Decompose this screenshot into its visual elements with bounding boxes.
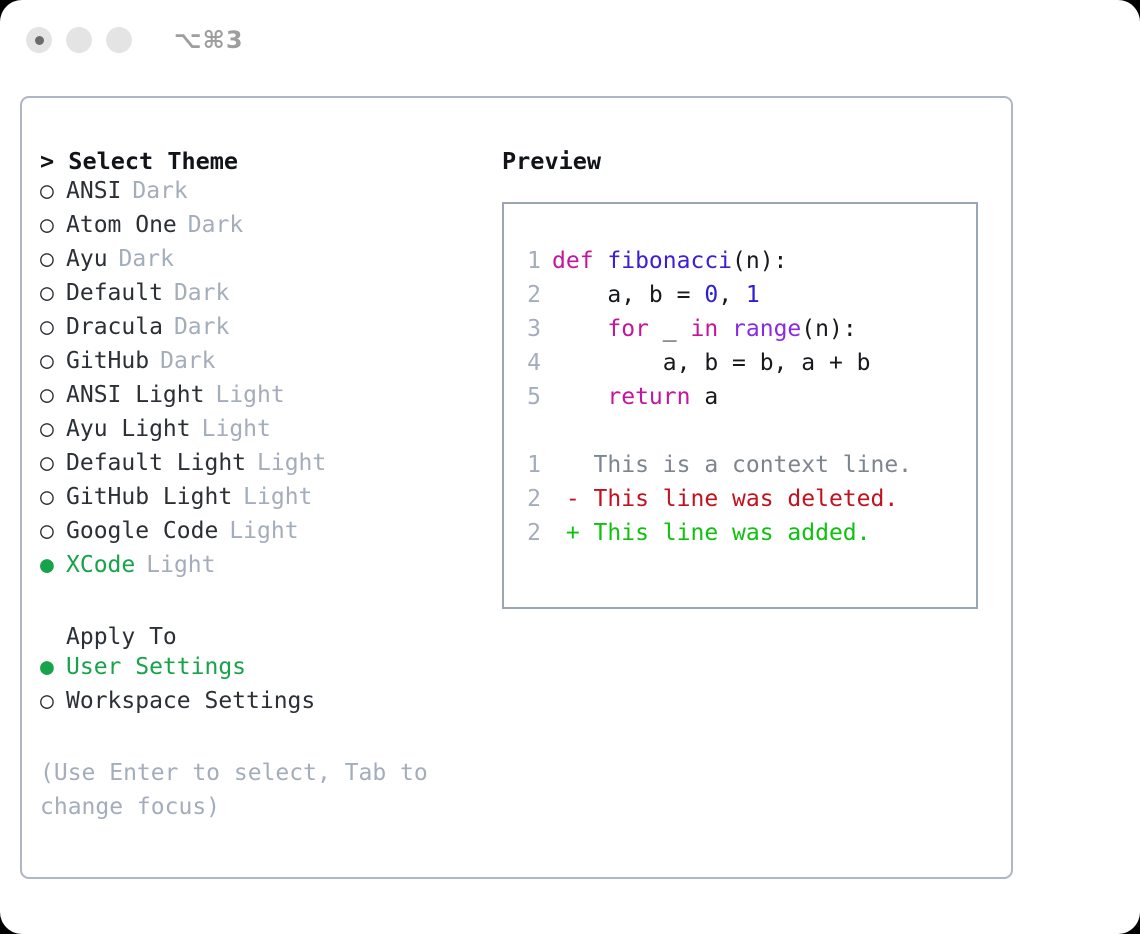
apply-to-option-workspace-settings[interactable]: ○Workspace Settings: [40, 688, 502, 722]
diff-line-number: 2: [516, 520, 552, 546]
code-token-pl: [552, 384, 607, 410]
radio-selected-icon: ●: [40, 654, 66, 680]
theme-option-label: Default: [66, 280, 163, 306]
radio-unselected-icon: ○: [40, 280, 66, 306]
theme-option-github-light[interactable]: ○GitHub LightLight: [40, 484, 502, 518]
code-line: 1def fibonacci(n):: [516, 248, 976, 282]
code-token-pl: (n):: [732, 248, 787, 274]
keyboard-hint-text: (Use Enter to select, Tab to change focu…: [40, 756, 445, 824]
code-line-content: a, b = 0, 1: [552, 282, 760, 308]
window-close-button[interactable]: [26, 27, 52, 53]
theme-option-atom-one[interactable]: ○Atom OneDark: [40, 212, 502, 246]
theme-option-label: ANSI Light: [66, 382, 204, 408]
spacer: [40, 586, 502, 620]
window-minimize-button[interactable]: [66, 27, 92, 53]
apply-to-heading: Apply To: [66, 620, 502, 654]
theme-variant-tag: Light: [229, 518, 298, 544]
panel-columns: > Select Theme ○ANSIDark○Atom OneDark○Ay…: [22, 98, 1011, 824]
theme-variant-tag: Dark: [174, 280, 229, 306]
radio-unselected-icon: ○: [40, 246, 66, 272]
theme-option-ayu-light[interactable]: ○Ayu LightLight: [40, 416, 502, 450]
code-line-content: for _ in range(n):: [552, 316, 857, 342]
code-line-number: 2: [516, 282, 552, 308]
radio-unselected-icon: ○: [40, 314, 66, 340]
radio-unselected-icon: ○: [40, 348, 66, 374]
diff-line: 2 - This line was deleted.: [516, 486, 976, 520]
theme-variant-tag: Light: [146, 552, 215, 578]
apply-to-option-user-settings[interactable]: ●User Settings: [40, 654, 502, 688]
preview-title: Preview: [502, 144, 1002, 178]
code-line-number: 5: [516, 384, 552, 410]
main-panel: > Select Theme ○ANSIDark○Atom OneDark○Ay…: [20, 96, 1013, 879]
code-token-fn: fibonacci: [607, 248, 732, 274]
code-line: 5 return a: [516, 384, 976, 418]
code-token-kw: in: [690, 316, 718, 342]
theme-option-label: Atom One: [66, 212, 177, 238]
theme-option-label: Ayu Light: [66, 416, 191, 442]
diff-line-content: This is a context line.: [552, 452, 912, 478]
theme-option-label: Default Light: [66, 450, 246, 476]
keyboard-shortcut-label: ⌥⌘3: [174, 26, 244, 54]
close-dot-icon: [35, 36, 44, 45]
code-line: 4 a, b = b, a + b: [516, 350, 976, 384]
theme-variant-tag: Dark: [119, 246, 174, 272]
code-token-kw: for: [607, 316, 649, 342]
code-line: 2 a, b = 0, 1: [516, 282, 976, 316]
theme-variant-tag: Light: [215, 382, 284, 408]
code-token-kw: return: [607, 384, 690, 410]
theme-variant-tag: Dark: [160, 348, 215, 374]
theme-option-dracula[interactable]: ○DraculaDark: [40, 314, 502, 348]
theme-option-ansi[interactable]: ○ANSIDark: [40, 178, 502, 212]
radio-unselected-icon: ○: [40, 382, 66, 408]
diff-line-content: - This line was deleted.: [552, 486, 898, 512]
theme-option-ayu[interactable]: ○AyuDark: [40, 246, 502, 280]
diff-line-content: + This line was added.: [552, 520, 871, 546]
radio-unselected-icon: ○: [40, 688, 66, 714]
theme-variant-tag: Dark: [174, 314, 229, 340]
theme-option-default-light[interactable]: ○Default LightLight: [40, 450, 502, 484]
theme-option-label: XCode: [66, 552, 135, 578]
radio-selected-icon: ●: [40, 552, 66, 578]
theme-option-google-code[interactable]: ○Google CodeLight: [40, 518, 502, 552]
code-line-content: return a: [552, 384, 718, 410]
diff-line: 2 + This line was added.: [516, 520, 976, 554]
code-sample: 1def fibonacci(n):2 a, b = 0, 13 for _ i…: [516, 248, 976, 418]
code-token-pl: _: [649, 316, 691, 342]
radio-unselected-icon: ○: [40, 518, 66, 544]
radio-unselected-icon: ○: [40, 450, 66, 476]
code-line-number: 1: [516, 248, 552, 274]
theme-option-github[interactable]: ○GitHubDark: [40, 348, 502, 382]
code-token-pl: a: [690, 384, 718, 410]
theme-option-label: GitHub Light: [66, 484, 232, 510]
code-token-num: 1: [746, 282, 760, 308]
apply-to-option-label: User Settings: [66, 654, 246, 680]
app-window: ⌥⌘3 > Select Theme ○ANSIDark○Atom OneDar…: [0, 0, 1140, 934]
preview-box: 1def fibonacci(n):2 a, b = 0, 13 for _ i…: [502, 202, 978, 609]
code-line-number: 3: [516, 316, 552, 342]
code-token-kw: def: [552, 248, 607, 274]
code-token-pl: [552, 316, 607, 342]
theme-option-label: ANSI: [66, 178, 121, 204]
code-token-pl: [718, 316, 732, 342]
theme-option-label: Ayu: [66, 246, 108, 272]
theme-option-label: Google Code: [66, 518, 218, 544]
window-titlebar: ⌥⌘3: [0, 0, 1140, 80]
apply-to-option-label: Workspace Settings: [66, 688, 315, 714]
diff-line-number: 1: [516, 452, 552, 478]
theme-option-xcode[interactable]: ●XCodeLight: [40, 552, 502, 586]
radio-unselected-icon: ○: [40, 416, 66, 442]
code-token-pl: a, b = b, a + b: [552, 350, 871, 376]
theme-option-ansi-light[interactable]: ○ANSI LightLight: [40, 382, 502, 416]
code-line-content: def fibonacci(n):: [552, 248, 787, 274]
apply-to-list[interactable]: ●User Settings○Workspace Settings: [40, 654, 502, 722]
theme-variant-tag: Light: [202, 416, 271, 442]
diff-sample: 1 This is a context line.2 - This line w…: [516, 452, 976, 554]
radio-unselected-icon: ○: [40, 178, 66, 204]
traffic-light-group: [26, 27, 132, 53]
code-token-bi: range: [732, 316, 801, 342]
window-zoom-button[interactable]: [106, 27, 132, 53]
diff-line: 1 This is a context line.: [516, 452, 976, 486]
code-spacer: [516, 418, 976, 452]
theme-variant-tag: Dark: [188, 212, 243, 238]
preview-column: Preview 1def fibonacci(n):2 a, b = 0, 13…: [502, 144, 1002, 824]
code-line-content: a, b = b, a + b: [552, 350, 871, 376]
code-token-pl: ,: [718, 282, 746, 308]
code-line-number: 4: [516, 350, 552, 376]
theme-variant-tag: Dark: [132, 178, 187, 204]
code-token-pl: a, b =: [552, 282, 704, 308]
theme-option-default[interactable]: ○DefaultDark: [40, 280, 502, 314]
theme-variant-tag: Light: [257, 450, 326, 476]
code-token-pl: (n):: [801, 316, 856, 342]
diff-line-number: 2: [516, 486, 552, 512]
theme-list[interactable]: ○ANSIDark○Atom OneDark○AyuDark○DefaultDa…: [40, 178, 502, 586]
theme-option-label: Dracula: [66, 314, 163, 340]
code-token-num: 0: [704, 282, 718, 308]
select-theme-prompt: > Select Theme: [40, 144, 502, 178]
theme-picker-column: > Select Theme ○ANSIDark○Atom OneDark○Ay…: [40, 144, 502, 824]
radio-unselected-icon: ○: [40, 484, 66, 510]
theme-variant-tag: Light: [243, 484, 312, 510]
code-line: 3 for _ in range(n):: [516, 316, 976, 350]
theme-option-label: GitHub: [66, 348, 149, 374]
radio-unselected-icon: ○: [40, 212, 66, 238]
